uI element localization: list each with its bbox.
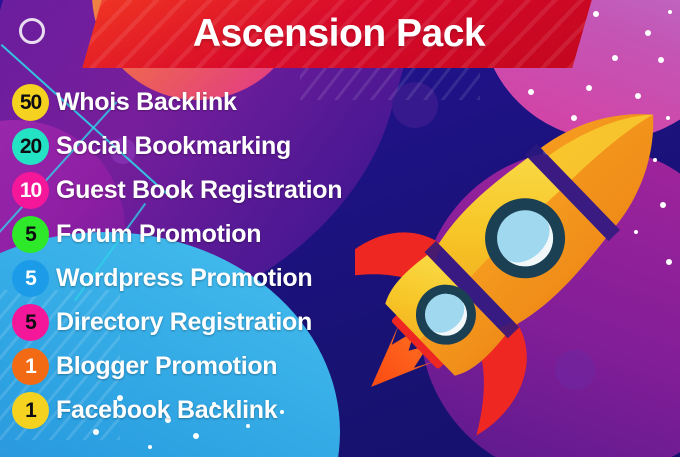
feature-row: 1Facebook Backlink bbox=[12, 388, 412, 432]
poster-canvas: Ascension Pack 50Whois Backlink20Social … bbox=[0, 0, 680, 457]
feature-row: 20Social Bookmarking bbox=[12, 124, 412, 168]
star-dot bbox=[645, 30, 651, 36]
star-dot bbox=[593, 11, 599, 17]
feature-label: Directory Registration bbox=[56, 308, 312, 337]
feature-count-badge: 50 bbox=[12, 84, 49, 121]
feature-label: Whois Backlink bbox=[56, 88, 237, 117]
star-dot bbox=[668, 10, 672, 14]
feature-row: 5Directory Registration bbox=[12, 300, 412, 344]
feature-count-badge: 1 bbox=[12, 348, 49, 385]
feature-row: 50Whois Backlink bbox=[12, 80, 412, 124]
feature-label: Forum Promotion bbox=[56, 220, 261, 249]
feature-count-badge: 1 bbox=[12, 392, 49, 429]
feature-row: 5Forum Promotion bbox=[12, 212, 412, 256]
feature-row: 5Wordpress Promotion bbox=[12, 256, 412, 300]
feature-label: Wordpress Promotion bbox=[56, 264, 312, 293]
star-dot bbox=[148, 445, 152, 449]
feature-label: Social Bookmarking bbox=[56, 132, 291, 161]
star-dot bbox=[193, 433, 199, 439]
feature-count-badge: 10 bbox=[12, 172, 49, 209]
feature-row: 1Blogger Promotion bbox=[12, 344, 412, 388]
feature-count-badge: 5 bbox=[12, 260, 49, 297]
page-title: Ascension Pack bbox=[92, 0, 582, 68]
feature-count-badge: 5 bbox=[12, 304, 49, 341]
feature-label: Guest Book Registration bbox=[56, 176, 342, 205]
feature-count-badge: 20 bbox=[12, 128, 49, 165]
feature-row: 10Guest Book Registration bbox=[12, 168, 412, 212]
feature-label: Facebook Backlink bbox=[56, 396, 277, 425]
feature-label: Blogger Promotion bbox=[56, 352, 277, 381]
title-banner-text-layer: Ascension Pack bbox=[82, 0, 591, 68]
feature-count-badge: 5 bbox=[12, 216, 49, 253]
feature-list: 50Whois Backlink20Social Bookmarking10Gu… bbox=[12, 80, 412, 432]
ring-outline-icon bbox=[19, 18, 45, 44]
